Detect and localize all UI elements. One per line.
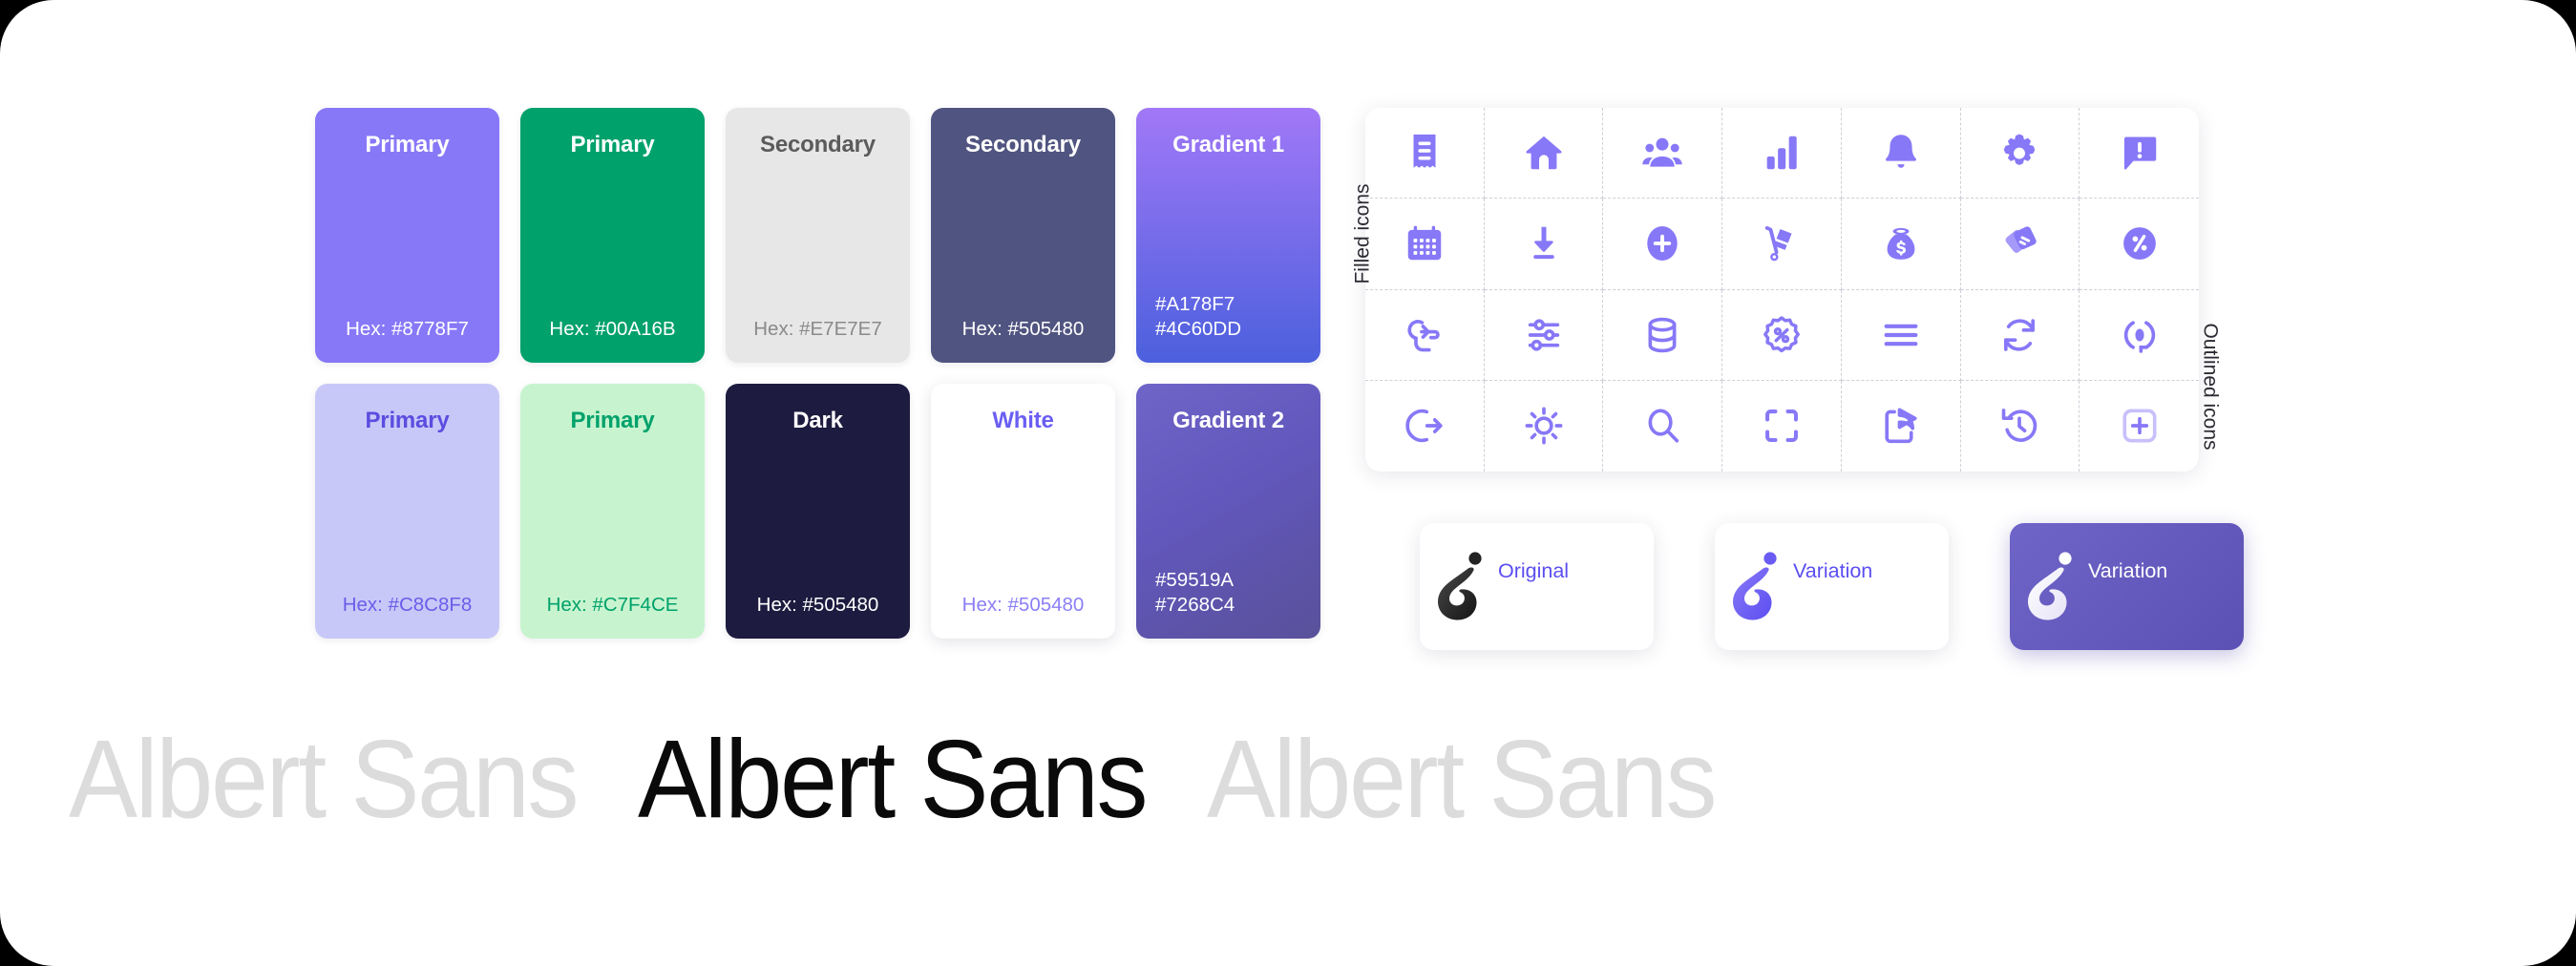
stacked-cards-icon — [1997, 221, 2041, 265]
icon-cell[interactable] — [1603, 381, 1722, 472]
logo-mark — [1433, 546, 1492, 630]
color-swatch[interactable]: Gradient 2#59519A #7268C4 — [1136, 384, 1320, 639]
icon-cell[interactable] — [1722, 290, 1842, 381]
database-icon — [1640, 313, 1684, 357]
swatch-name: Secondary — [745, 133, 891, 157]
alert-speech-bubble-icon — [2118, 131, 2162, 175]
type-specimen: Albert Sans — [638, 724, 1146, 834]
brand-logo-icon — [1433, 546, 1492, 628]
logo-card-label: Variation — [2088, 559, 2167, 583]
home-icon — [1522, 131, 1566, 175]
color-swatch[interactable]: DarkHex: #505480 — [726, 384, 910, 639]
gear-icon — [1997, 131, 2041, 175]
brand-logo-icon — [1728, 546, 1787, 628]
logout-icon — [1403, 404, 1446, 448]
icon-cell[interactable] — [1365, 381, 1485, 472]
icon-cell[interactable] — [1365, 199, 1485, 289]
color-swatch[interactable]: PrimaryHex: #C7F4CE — [520, 384, 705, 639]
swatch-hex-label: #A178F7 #4C60DD — [1155, 292, 1301, 342]
color-swatch[interactable]: Gradient 1#A178F7 #4C60DD — [1136, 108, 1320, 363]
color-swatch[interactable]: PrimaryHex: #00A16B — [520, 108, 705, 363]
swatch-hex-label: Hex: #8778F7 — [334, 317, 480, 342]
icon-cell[interactable] — [1961, 381, 2080, 472]
receipt-icon — [1403, 131, 1446, 175]
search-icon — [1640, 404, 1684, 448]
users-group-icon — [1640, 131, 1684, 175]
calendar-icon — [1403, 221, 1446, 265]
scan-frame-icon — [1760, 404, 1804, 448]
color-swatch[interactable]: SecondaryHex: #505480 — [931, 108, 1115, 363]
logo-card-label: Original — [1498, 559, 1569, 583]
swatch-name: Primary — [334, 409, 480, 433]
icon-cell[interactable] — [2080, 381, 2199, 472]
icon-cell[interactable] — [1842, 290, 1961, 381]
percent-circle-icon — [2118, 221, 2162, 265]
logo-mark — [2023, 546, 2082, 630]
color-swatch[interactable]: PrimaryHex: #C8C8F8 — [315, 384, 499, 639]
swatch-name: Primary — [539, 409, 686, 433]
swatch-name: Gradient 1 — [1155, 133, 1301, 157]
color-swatch[interactable]: WhiteHex: #505480 — [931, 384, 1115, 639]
icon-cell[interactable] — [1603, 108, 1722, 199]
icon-cell[interactable] — [1842, 108, 1961, 199]
swatch-hex-label: Hex: #00A16B — [539, 317, 686, 342]
color-swatch[interactable]: PrimaryHex: #8778F7 — [315, 108, 499, 363]
icon-cell[interactable] — [1961, 199, 2080, 289]
icon-cell[interactable] — [1722, 381, 1842, 472]
logo-card-label: Variation — [1793, 559, 1872, 583]
hand-truck-icon — [1760, 221, 1804, 265]
design-system-board: PrimaryHex: #8778F7PrimaryHex: #00A16BSe… — [0, 0, 2576, 966]
logo-card[interactable]: Original — [1420, 523, 1654, 650]
menu-lines-icon — [1879, 313, 1923, 357]
swatch-hex-label: Hex: #C8C8F8 — [334, 593, 480, 618]
share-icon — [1879, 404, 1923, 448]
filled-icons-label: Filled icons — [1352, 183, 1375, 283]
logo-card[interactable]: Variation — [1715, 523, 1949, 650]
icon-cell[interactable] — [1961, 108, 2080, 199]
icon-cell[interactable] — [1961, 290, 2080, 381]
sliders-icon — [1522, 313, 1566, 357]
pointing-hand-icon — [1403, 313, 1446, 357]
color-palette: PrimaryHex: #8778F7PrimaryHex: #00A16BSe… — [315, 108, 1320, 639]
type-specimen: Albert Sans — [69, 724, 577, 834]
swatch-hex-label: Hex: #C7F4CE — [539, 593, 686, 618]
outlined-icons-label: Outlined icons — [2198, 323, 2221, 450]
icon-cell[interactable] — [1722, 199, 1842, 289]
add-box-icon — [2118, 404, 2162, 448]
icon-cell[interactable] — [1485, 108, 1604, 199]
bell-icon — [1879, 131, 1923, 175]
download-icon — [1522, 221, 1566, 265]
icon-cell[interactable] — [1722, 108, 1842, 199]
swatch-name: Dark — [745, 409, 891, 433]
swatch-row-1: PrimaryHex: #8778F7PrimaryHex: #00A16BSe… — [315, 108, 1320, 363]
discount-badge-icon — [1760, 313, 1804, 357]
money-bag-icon — [1879, 221, 1923, 265]
icon-cell[interactable] — [1603, 290, 1722, 381]
icon-cell[interactable] — [1842, 381, 1961, 472]
icon-cell[interactable] — [1842, 199, 1961, 289]
icon-cell[interactable] — [1485, 199, 1604, 289]
color-swatch[interactable]: SecondaryHex: #E7E7E7 — [726, 108, 910, 363]
swatch-hex-label: Hex: #E7E7E7 — [745, 317, 891, 342]
plus-circle-icon — [1640, 221, 1684, 265]
sun-icon — [1522, 404, 1566, 448]
icon-cell[interactable] — [1365, 108, 1485, 199]
logo-card[interactable]: Variation — [2010, 523, 2244, 650]
icon-cell[interactable] — [1365, 290, 1485, 381]
icon-cell[interactable] — [1485, 381, 1604, 472]
swatch-name: Primary — [334, 133, 480, 157]
icon-cell[interactable] — [2080, 108, 2199, 199]
swatch-hex-label: Hex: #505480 — [950, 317, 1096, 342]
typography-specimen-row: Albert Sans Albert Sans Albert Sans — [0, 693, 2576, 865]
swatch-hex-label: Hex: #505480 — [950, 593, 1096, 618]
brand-logo-icon — [2023, 546, 2082, 628]
icon-cell[interactable] — [1485, 290, 1604, 381]
refresh-icon — [1997, 313, 2041, 357]
bar-chart-icon — [1760, 131, 1804, 175]
type-specimen: Albert Sans — [1207, 724, 1715, 834]
history-clock-icon — [1997, 404, 2041, 448]
swatch-name: Gradient 2 — [1155, 409, 1301, 433]
icon-cell[interactable] — [1603, 199, 1722, 289]
logo-mark — [1728, 546, 1787, 630]
swatch-hex-label: Hex: #505480 — [745, 593, 891, 618]
swatch-name: White — [950, 409, 1096, 433]
swatch-row-2: PrimaryHex: #C8C8F8PrimaryHex: #C7F4CEDa… — [315, 384, 1320, 639]
icon-grid — [1365, 108, 2199, 472]
icon-library: Filled icons Outlined icons — [1365, 108, 2199, 472]
icon-cell[interactable] — [2080, 199, 2199, 289]
swatch-name: Secondary — [950, 133, 1096, 157]
swatch-name: Primary — [539, 133, 686, 157]
logo-variations: Original Variation Variation — [1420, 523, 2244, 650]
power-button-icon — [2118, 313, 2162, 357]
swatch-hex-label: #59519A #7268C4 — [1155, 568, 1301, 618]
icon-cell[interactable] — [2080, 290, 2199, 381]
